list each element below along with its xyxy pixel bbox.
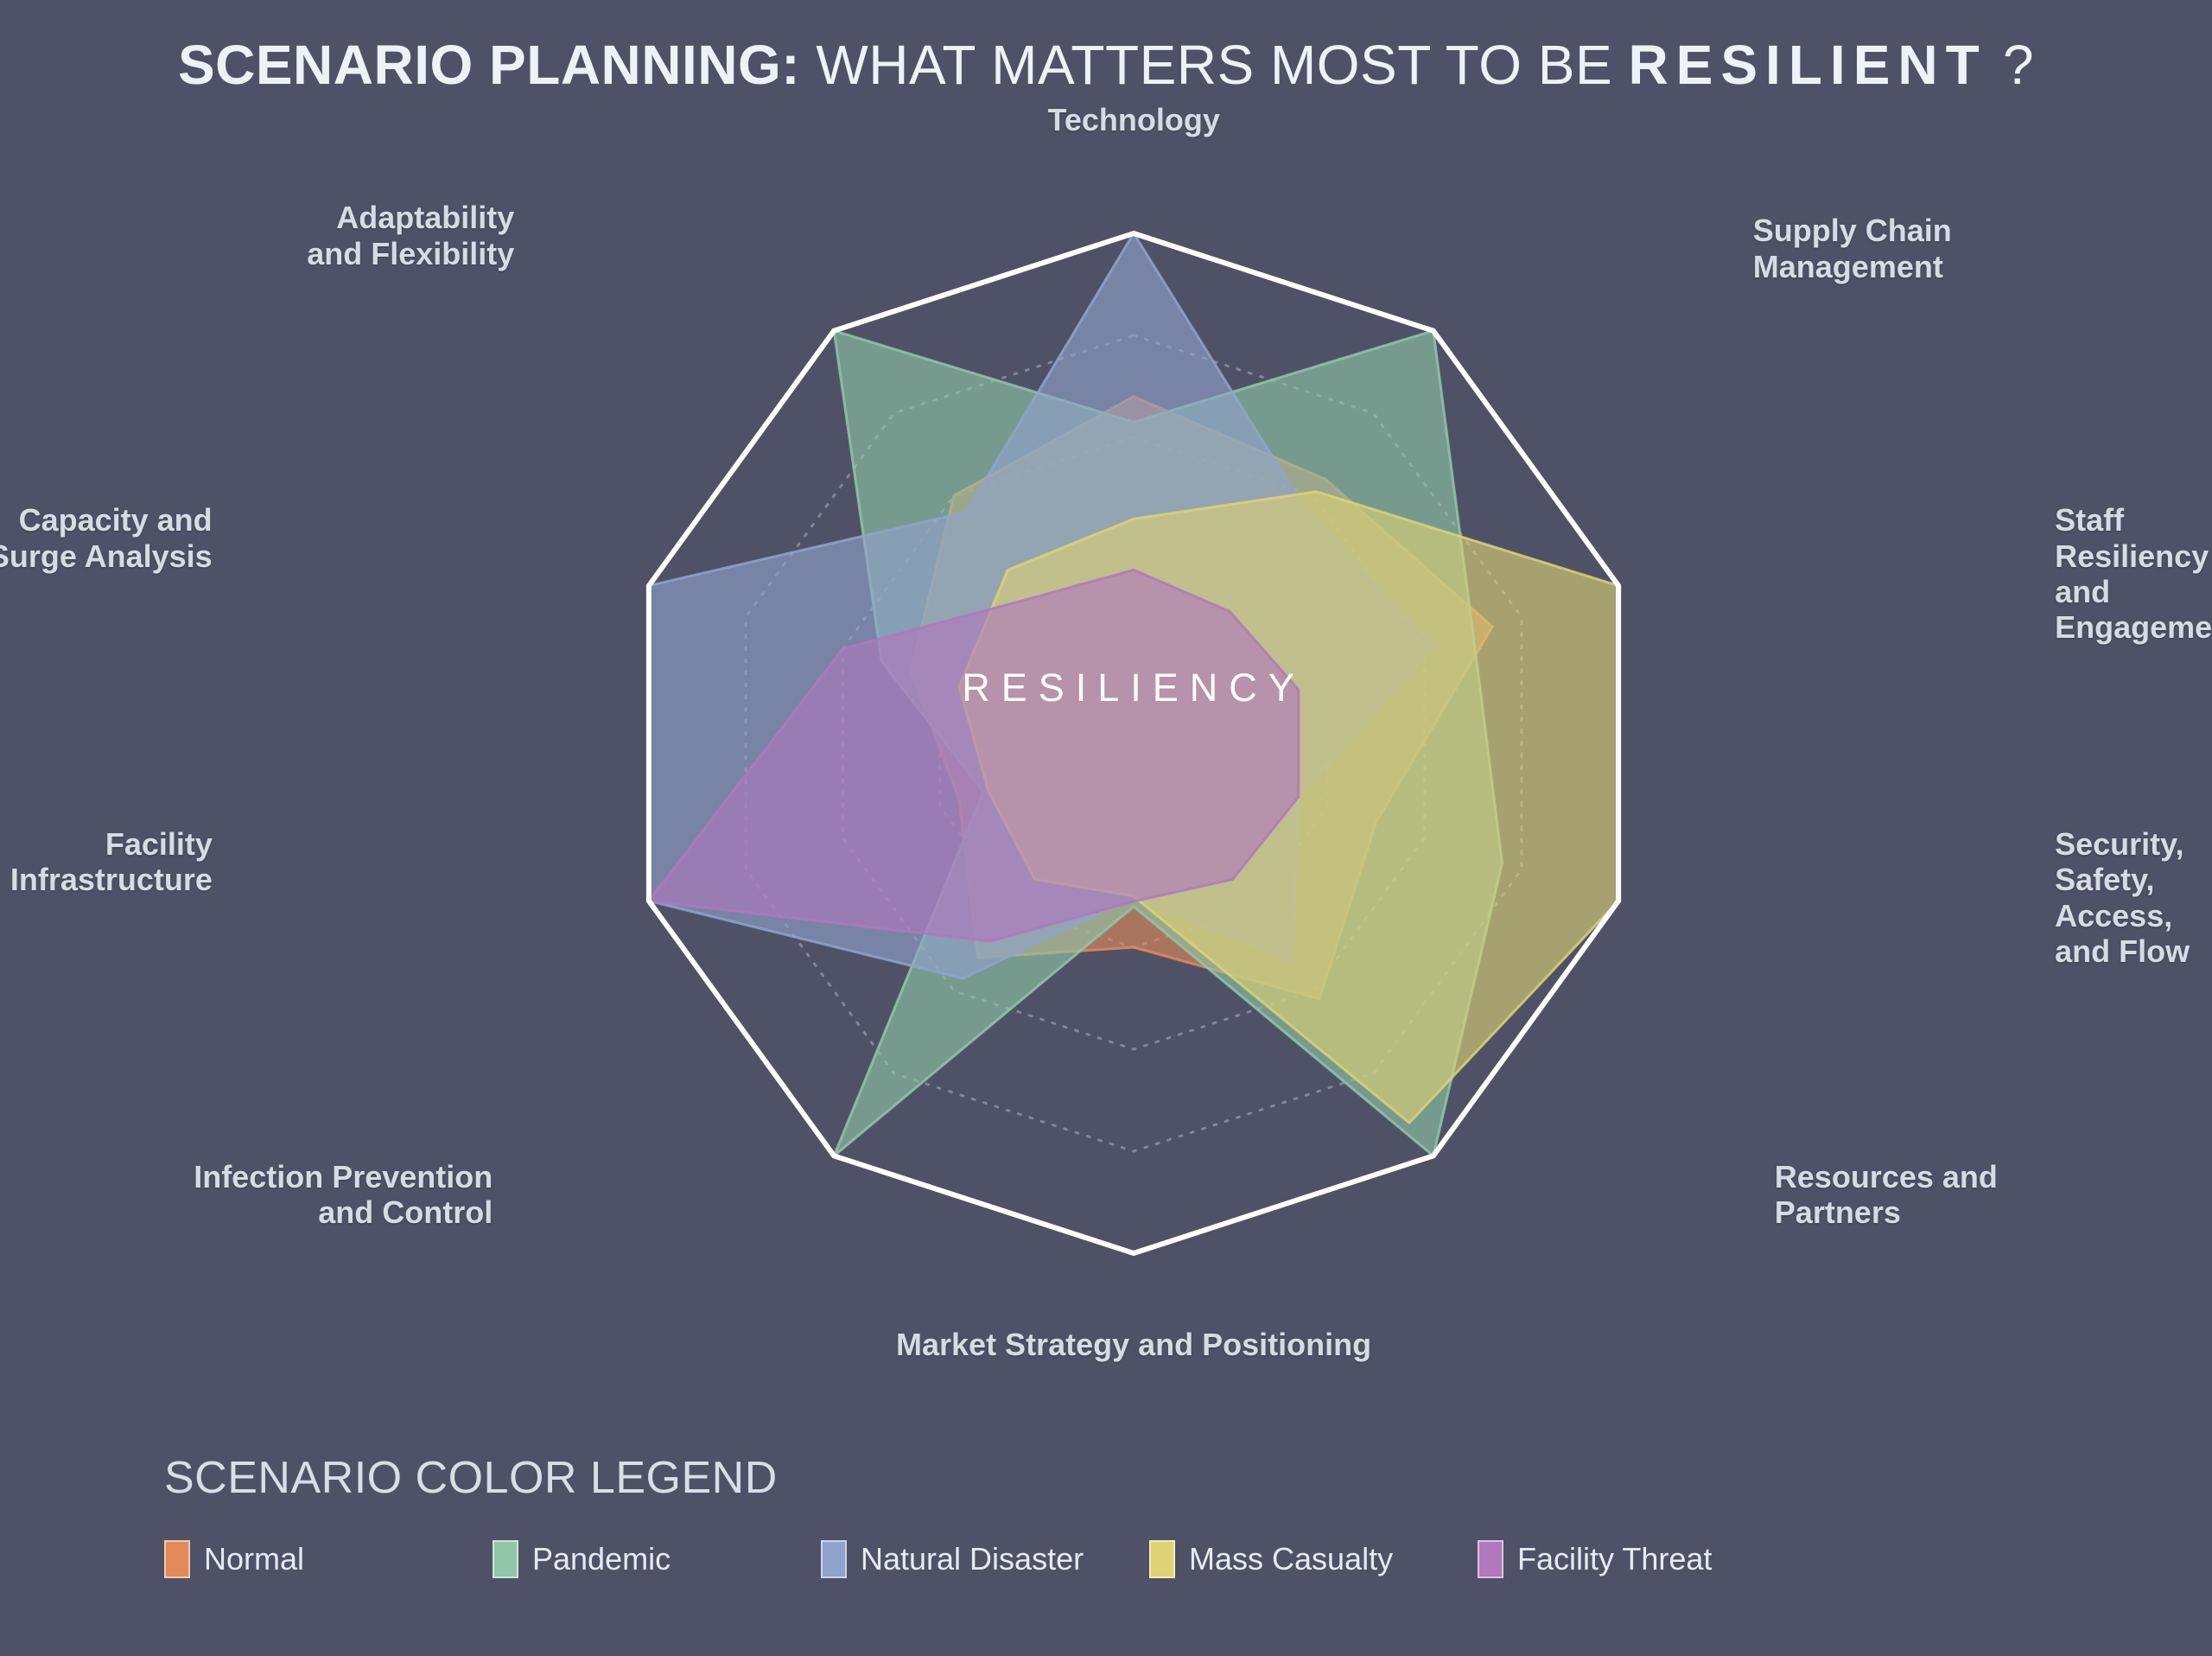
axis-label-staff-resiliency: Staff Resiliencyand Engagement (2055, 502, 2212, 646)
legend-item-pandemic[interactable]: Pandemic (493, 1540, 821, 1578)
chart-center-label: RESILIENCY (840, 666, 1427, 710)
axis-label-line: and Engagement (2055, 574, 2212, 646)
legend-item-mass-casualty[interactable]: Mass Casualty (1149, 1540, 1478, 1578)
axis-label-facility-infra: FacilityInfrastructure (10, 826, 213, 898)
axis-label-resources: Resources andPartners (1775, 1159, 1998, 1231)
axis-label-line: Management (1753, 249, 1952, 284)
axis-label-market-strategy: Market Strategy and Positioning (896, 1327, 1371, 1362)
legend-items: NormalPandemicNatural DisasterMass Casua… (164, 1540, 2065, 1578)
legend-label: Pandemic (532, 1541, 671, 1577)
legend-item-natural-disaster[interactable]: Natural Disaster (821, 1540, 1149, 1578)
axis-label-line: Security, Safety, (2055, 826, 2212, 898)
axis-label-line: Staff Resiliency (2055, 502, 2212, 574)
title-bold: SCENARIO PLANNING: (178, 34, 800, 96)
title-suffix: ? (1987, 34, 2034, 96)
axis-label-line: Adaptability (307, 200, 514, 235)
legend-swatch-icon (164, 1540, 190, 1578)
axis-label-line: Supply Chain (1753, 213, 1952, 248)
axis-label-line: and Control (194, 1194, 493, 1230)
axis-label-line: Technology (1048, 102, 1220, 137)
legend-label: Facility Threat (1517, 1541, 1712, 1577)
axis-label-line: Partners (1775, 1194, 1998, 1230)
axis-label-line: and Flexibility (307, 236, 514, 271)
legend-label: Normal (204, 1541, 304, 1577)
axis-label-supply-chain: Supply ChainManagement (1753, 213, 1952, 284)
title-emphasis: RESILIENT (1628, 34, 1986, 96)
legend-heading: SCENARIO COLOR LEGEND (164, 1452, 2065, 1504)
axis-label-line: Access, and Flow (2055, 898, 2212, 970)
axis-label-adaptability: Adaptabilityand Flexibility (307, 200, 514, 271)
axis-label-line: Infrastructure (10, 862, 213, 897)
axis-label-infection-prev: Infection Preventionand Control (194, 1159, 493, 1231)
axis-label-capacity-surge: Capacity andSurge Analysis (0, 502, 213, 574)
axis-label-line: Resources and (1775, 1159, 1998, 1194)
axis-label-line: Capacity and (0, 502, 213, 538)
axis-label-technology: Technology (1048, 102, 1220, 137)
legend-item-normal[interactable]: Normal (164, 1540, 493, 1578)
axis-label-line: Facility (10, 826, 213, 862)
page-title: SCENARIO PLANNING: WHAT MATTERS MOST TO … (0, 33, 2212, 97)
legend-label: Mass Casualty (1189, 1541, 1393, 1577)
axis-label-security-safety: Security, Safety,Access, and Flow (2055, 826, 2212, 970)
legend-swatch-icon (1149, 1540, 1175, 1578)
legend: SCENARIO COLOR LEGEND NormalPandemicNatu… (164, 1452, 2065, 1578)
legend-item-facility-threat[interactable]: Facility Threat (1478, 1540, 1806, 1578)
legend-swatch-icon (821, 1540, 847, 1578)
axis-label-line: Surge Analysis (0, 538, 213, 574)
legend-swatch-icon (493, 1540, 518, 1578)
axis-label-line: Market Strategy and Positioning (896, 1327, 1371, 1362)
title-light: WHAT MATTERS MOST TO BE (800, 34, 1628, 96)
legend-label: Natural Disaster (861, 1541, 1084, 1577)
radar-chart: RESILIENCY TechnologySupply ChainManagem… (0, 104, 2212, 1417)
axis-label-line: Infection Prevention (194, 1159, 493, 1194)
legend-swatch-icon (1478, 1540, 1503, 1578)
